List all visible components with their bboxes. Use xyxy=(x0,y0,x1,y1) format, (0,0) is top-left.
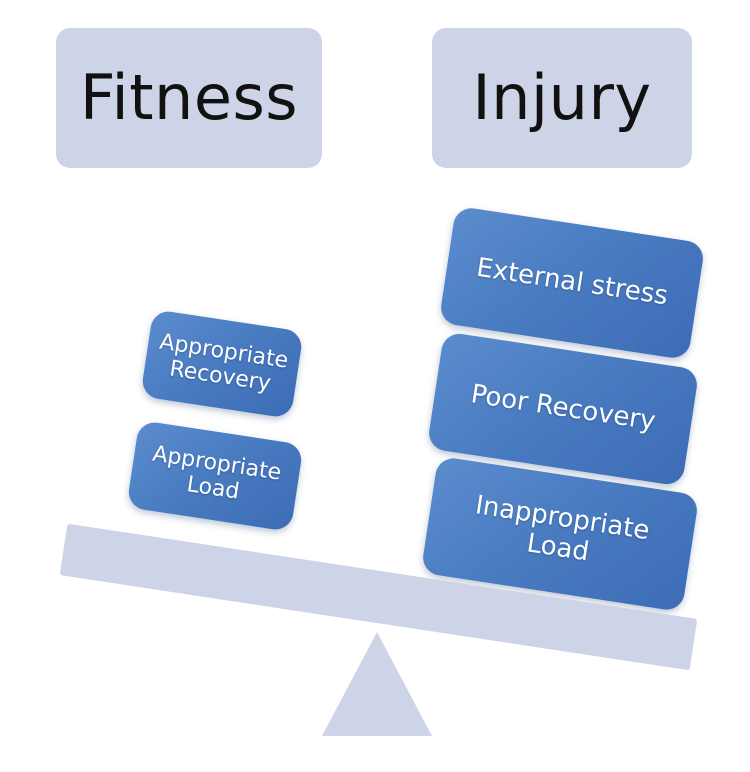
card-label-appropriate-recovery: Appropriate Recovery xyxy=(144,328,300,400)
header-box-fitness: Fitness xyxy=(56,28,322,168)
header-label-fitness: Fitness xyxy=(80,67,298,129)
card-appropriate-recovery: Appropriate Recovery xyxy=(140,309,303,419)
card-label-poor-recovery: Poor Recovery xyxy=(459,379,667,439)
card-appropriate-load: Appropriate Load xyxy=(126,420,303,532)
diagram-canvas: Fitness Injury Appropriate Recovery Appr… xyxy=(0,0,750,772)
header-label-injury: Injury xyxy=(472,67,651,129)
card-label-external-stress: External stress xyxy=(464,252,679,313)
header-box-injury: Injury xyxy=(432,28,692,168)
card-label-appropriate-load: Appropriate Load xyxy=(137,440,293,512)
seesaw-fulcrum xyxy=(322,632,432,736)
card-label-inappropriate-load: Inappropriate Load xyxy=(425,485,695,584)
